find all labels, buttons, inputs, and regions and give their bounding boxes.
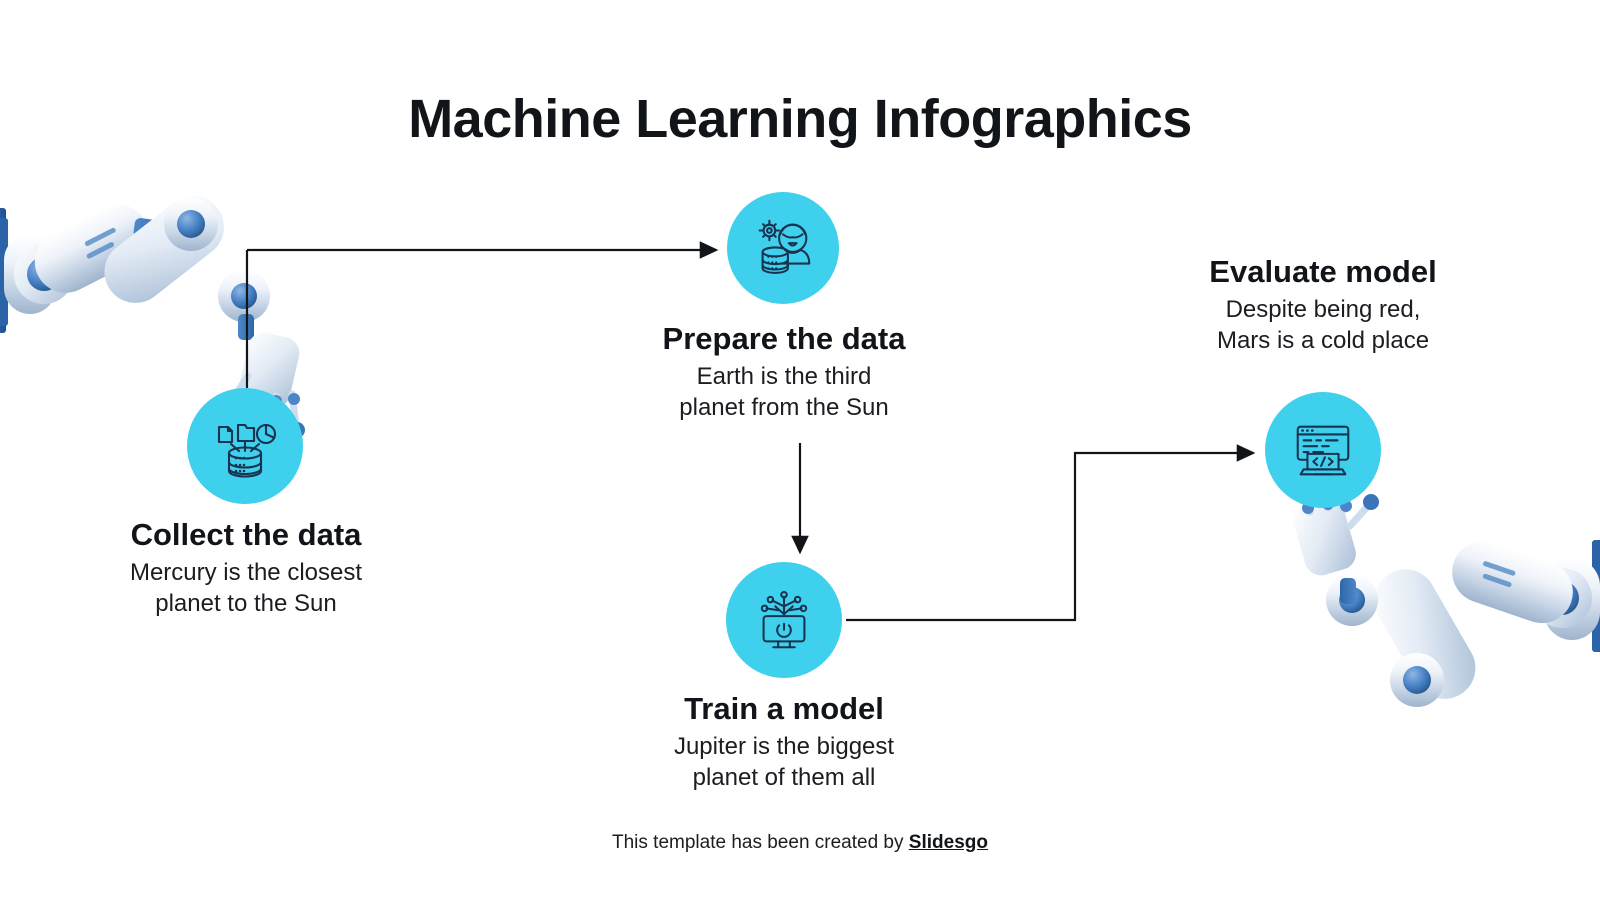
neural-network-monitor-icon bbox=[749, 585, 819, 655]
node-prepare-title: Prepare the data bbox=[538, 322, 1030, 357]
node-evaluate-desc-line1: Despite being red, bbox=[1077, 294, 1569, 325]
code-window-laptop-icon bbox=[1288, 415, 1358, 485]
data-scientist-icon bbox=[748, 213, 818, 283]
node-collect-desc-line1: Mercury is the closest bbox=[0, 557, 492, 588]
node-evaluate-desc-line2: Mars is a cold place bbox=[1077, 325, 1569, 356]
node-train-description: Jupiter is the biggest planet of them al… bbox=[538, 731, 1030, 793]
node-evaluate-description: Despite being red, Mars is a cold place bbox=[1077, 294, 1569, 356]
node-train-text: Train a model Jupiter is the biggest pla… bbox=[538, 692, 1030, 793]
infographic-canvas: Machine Learning Infographics bbox=[0, 0, 1600, 900]
footer-prefix: This template has been created by bbox=[612, 832, 909, 853]
node-prepare-desc-line1: Earth is the third bbox=[538, 361, 1030, 392]
node-collect-description: Mercury is the closest planet to the Sun bbox=[0, 557, 492, 619]
node-collect-desc-line2: planet to the Sun bbox=[0, 588, 492, 619]
node-prepare-desc-line2: planet from the Sun bbox=[538, 392, 1030, 423]
node-collect-circle[interactable] bbox=[187, 388, 303, 504]
node-train-desc-line2: planet of them all bbox=[538, 762, 1030, 793]
node-evaluate-text: Evaluate model Despite being red, Mars i… bbox=[1077, 255, 1569, 356]
node-prepare-circle[interactable] bbox=[727, 192, 839, 304]
footer-brand-link[interactable]: Slidesgo bbox=[909, 832, 988, 853]
database-upload-icon bbox=[209, 410, 281, 482]
node-prepare-text: Prepare the data Earth is the third plan… bbox=[538, 322, 1030, 423]
footer-credit: This template has been created by Slides… bbox=[0, 832, 1600, 854]
node-prepare-description: Earth is the third planet from the Sun bbox=[538, 361, 1030, 423]
node-evaluate-circle[interactable] bbox=[1265, 392, 1381, 508]
node-collect-text: Collect the data Mercury is the closest … bbox=[0, 518, 492, 619]
node-train-circle[interactable] bbox=[726, 562, 842, 678]
node-collect-title: Collect the data bbox=[0, 518, 492, 553]
node-train-title: Train a model bbox=[538, 692, 1030, 727]
connector-train-to-evaluate bbox=[846, 453, 1253, 620]
node-evaluate-title: Evaluate model bbox=[1077, 255, 1569, 290]
node-train-desc-line1: Jupiter is the biggest bbox=[538, 731, 1030, 762]
